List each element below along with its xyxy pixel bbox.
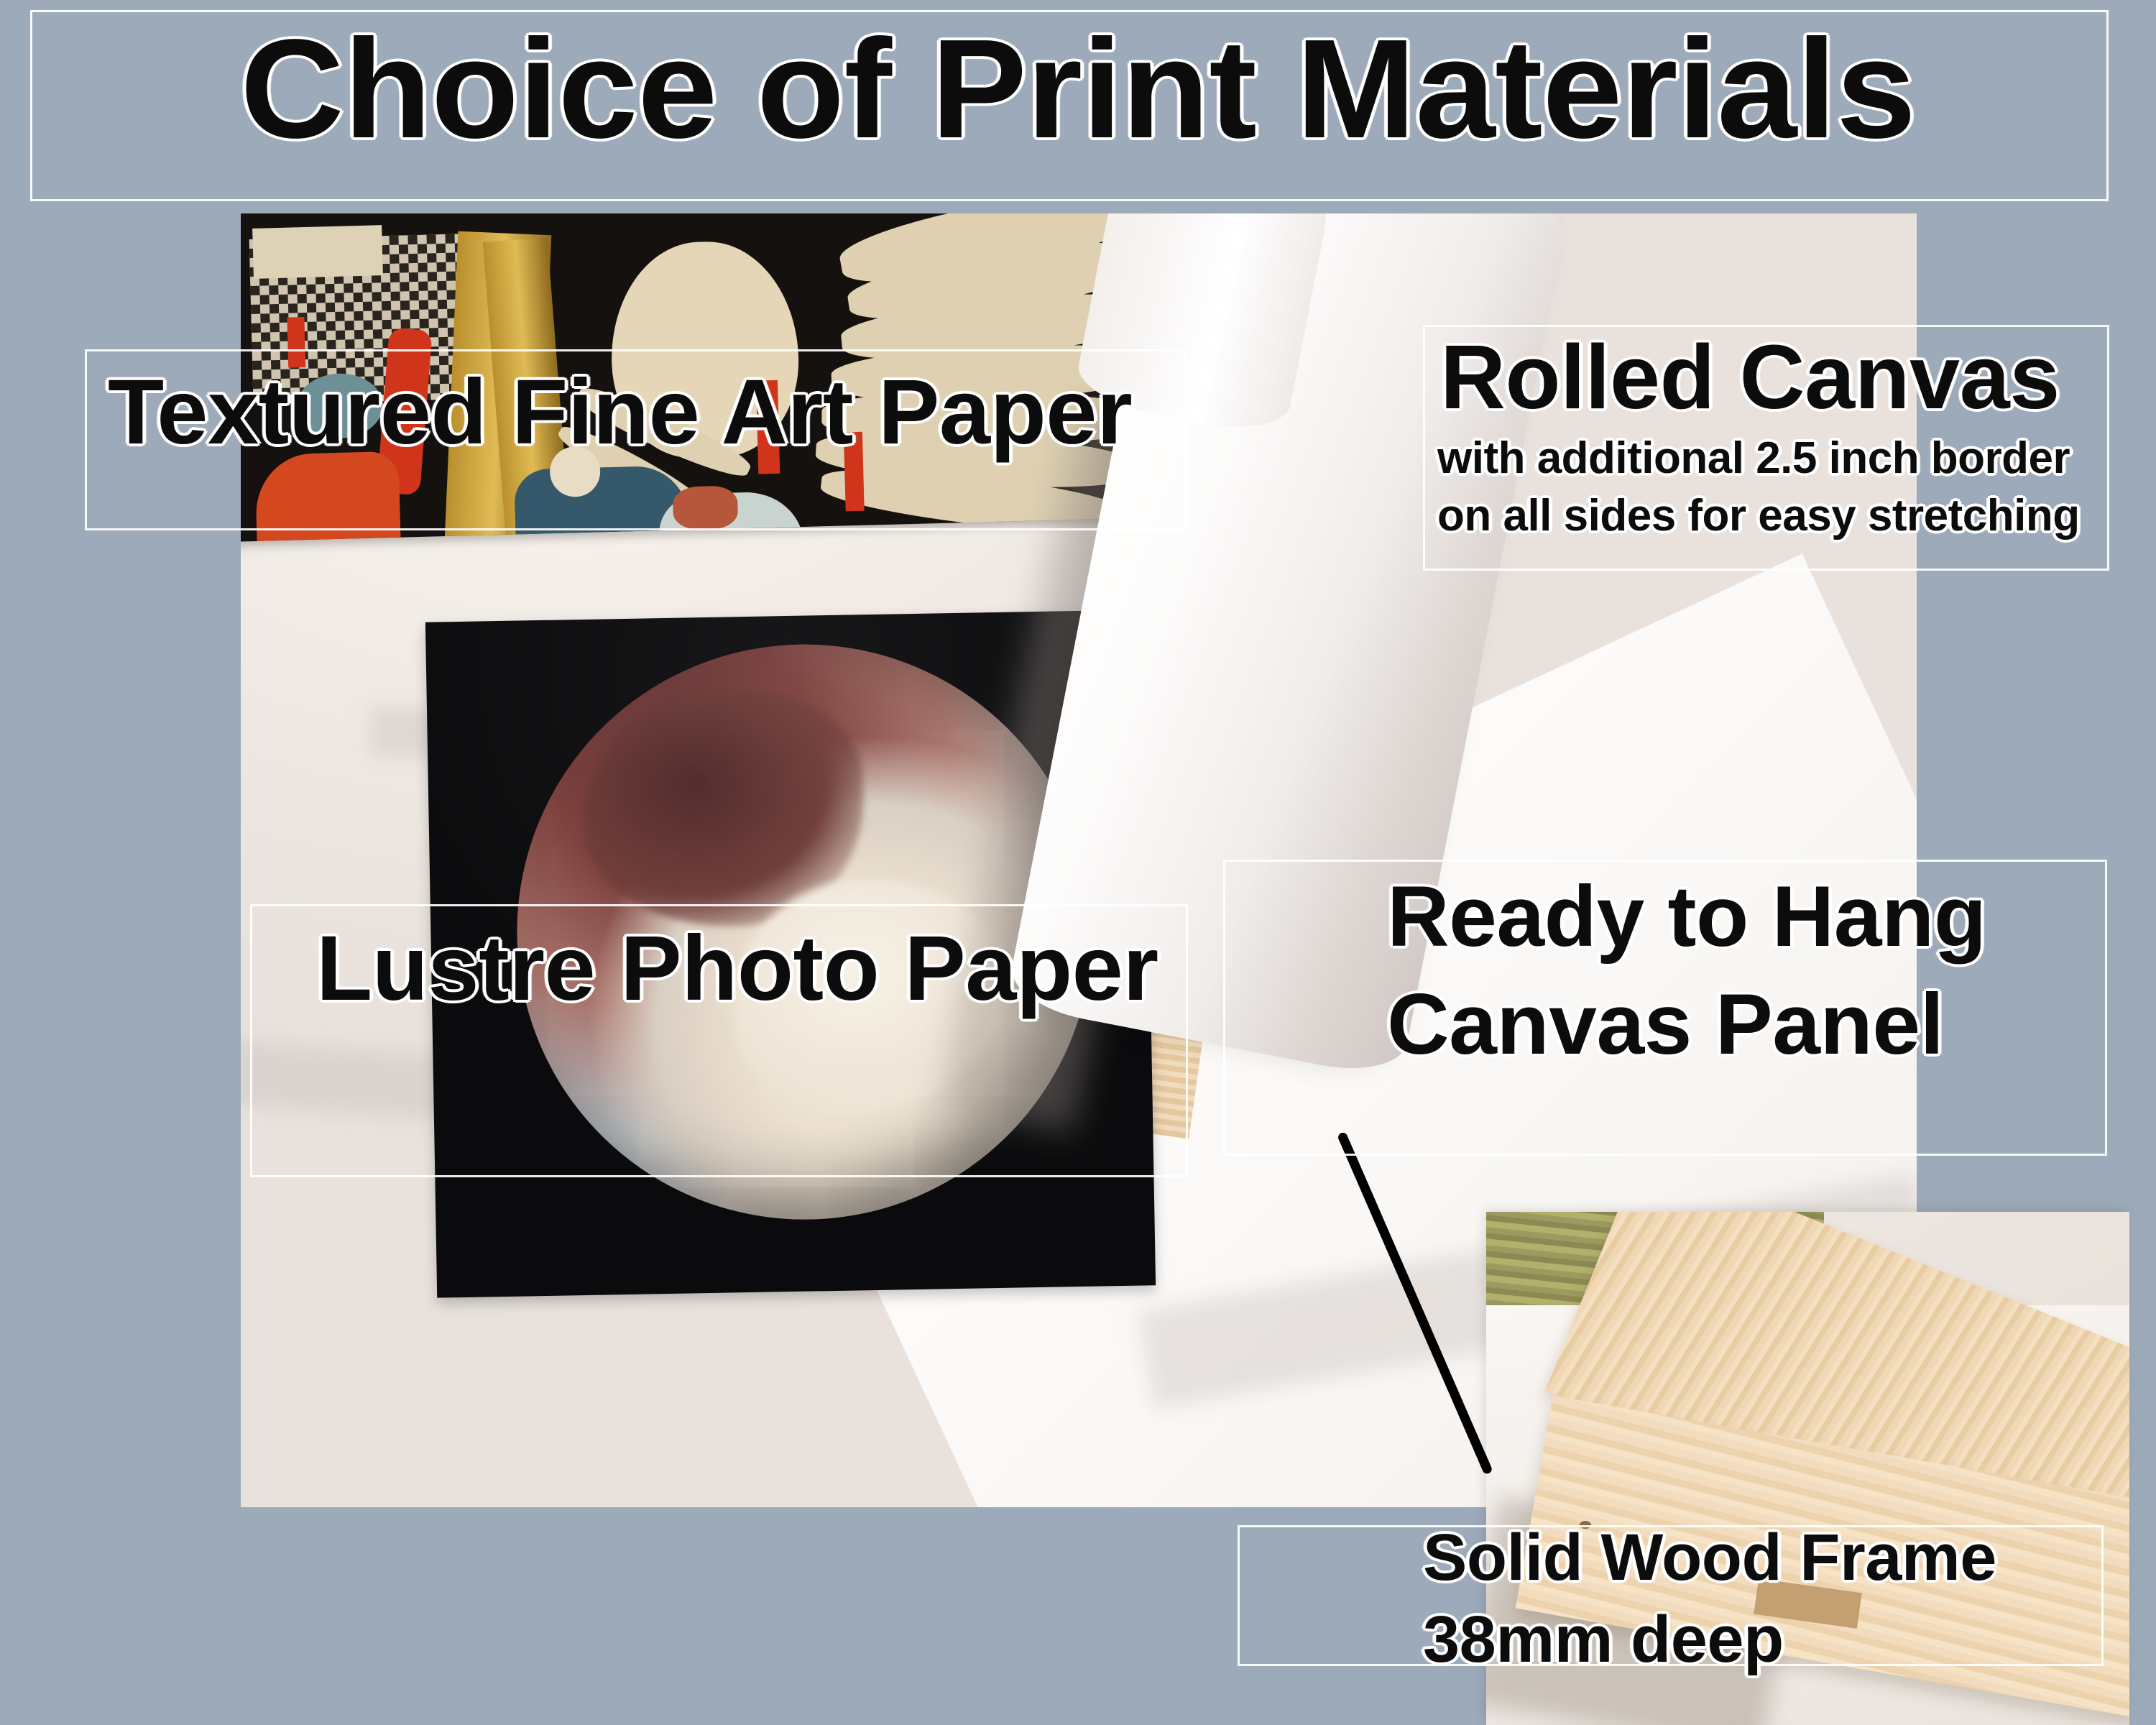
pluto-dark-region	[581, 686, 866, 929]
fine-art-paper-label: Textured Fine Art Paper	[108, 355, 1132, 470]
product-infographic: Choice of Print Materials Textured Fine …	[0, 0, 2156, 1725]
ready-to-hang-line-2: Canvas Panel	[1387, 970, 1986, 1078]
ready-to-hang-line-1: Ready to Hang	[1387, 862, 1986, 970]
lustre-photo-paper-label: Lustre Photo Paper	[316, 911, 1158, 1026]
solid-wood-frame-label: Solid Wood Frame 38mm deep	[1423, 1517, 1996, 1680]
page-title: Choice of Print Materials	[0, 3, 2156, 175]
ready-to-hang-label: Ready to Hang Canvas Panel	[1387, 862, 1986, 1078]
solid-wood-frame-line-2: 38mm deep	[1423, 1598, 1996, 1680]
rolled-canvas-subtitle-line-2: on all sides for easy stretching	[1437, 487, 2080, 545]
solid-wood-frame-line-1: Solid Wood Frame	[1423, 1517, 1996, 1598]
rolled-canvas-subtitle-line-1: with additional 2.5 inch border	[1437, 430, 2080, 487]
rolled-canvas-subtitle: with additional 2.5 inch border on all s…	[1437, 430, 2080, 545]
rolled-canvas-label: Rolled Canvas	[1440, 323, 2060, 431]
